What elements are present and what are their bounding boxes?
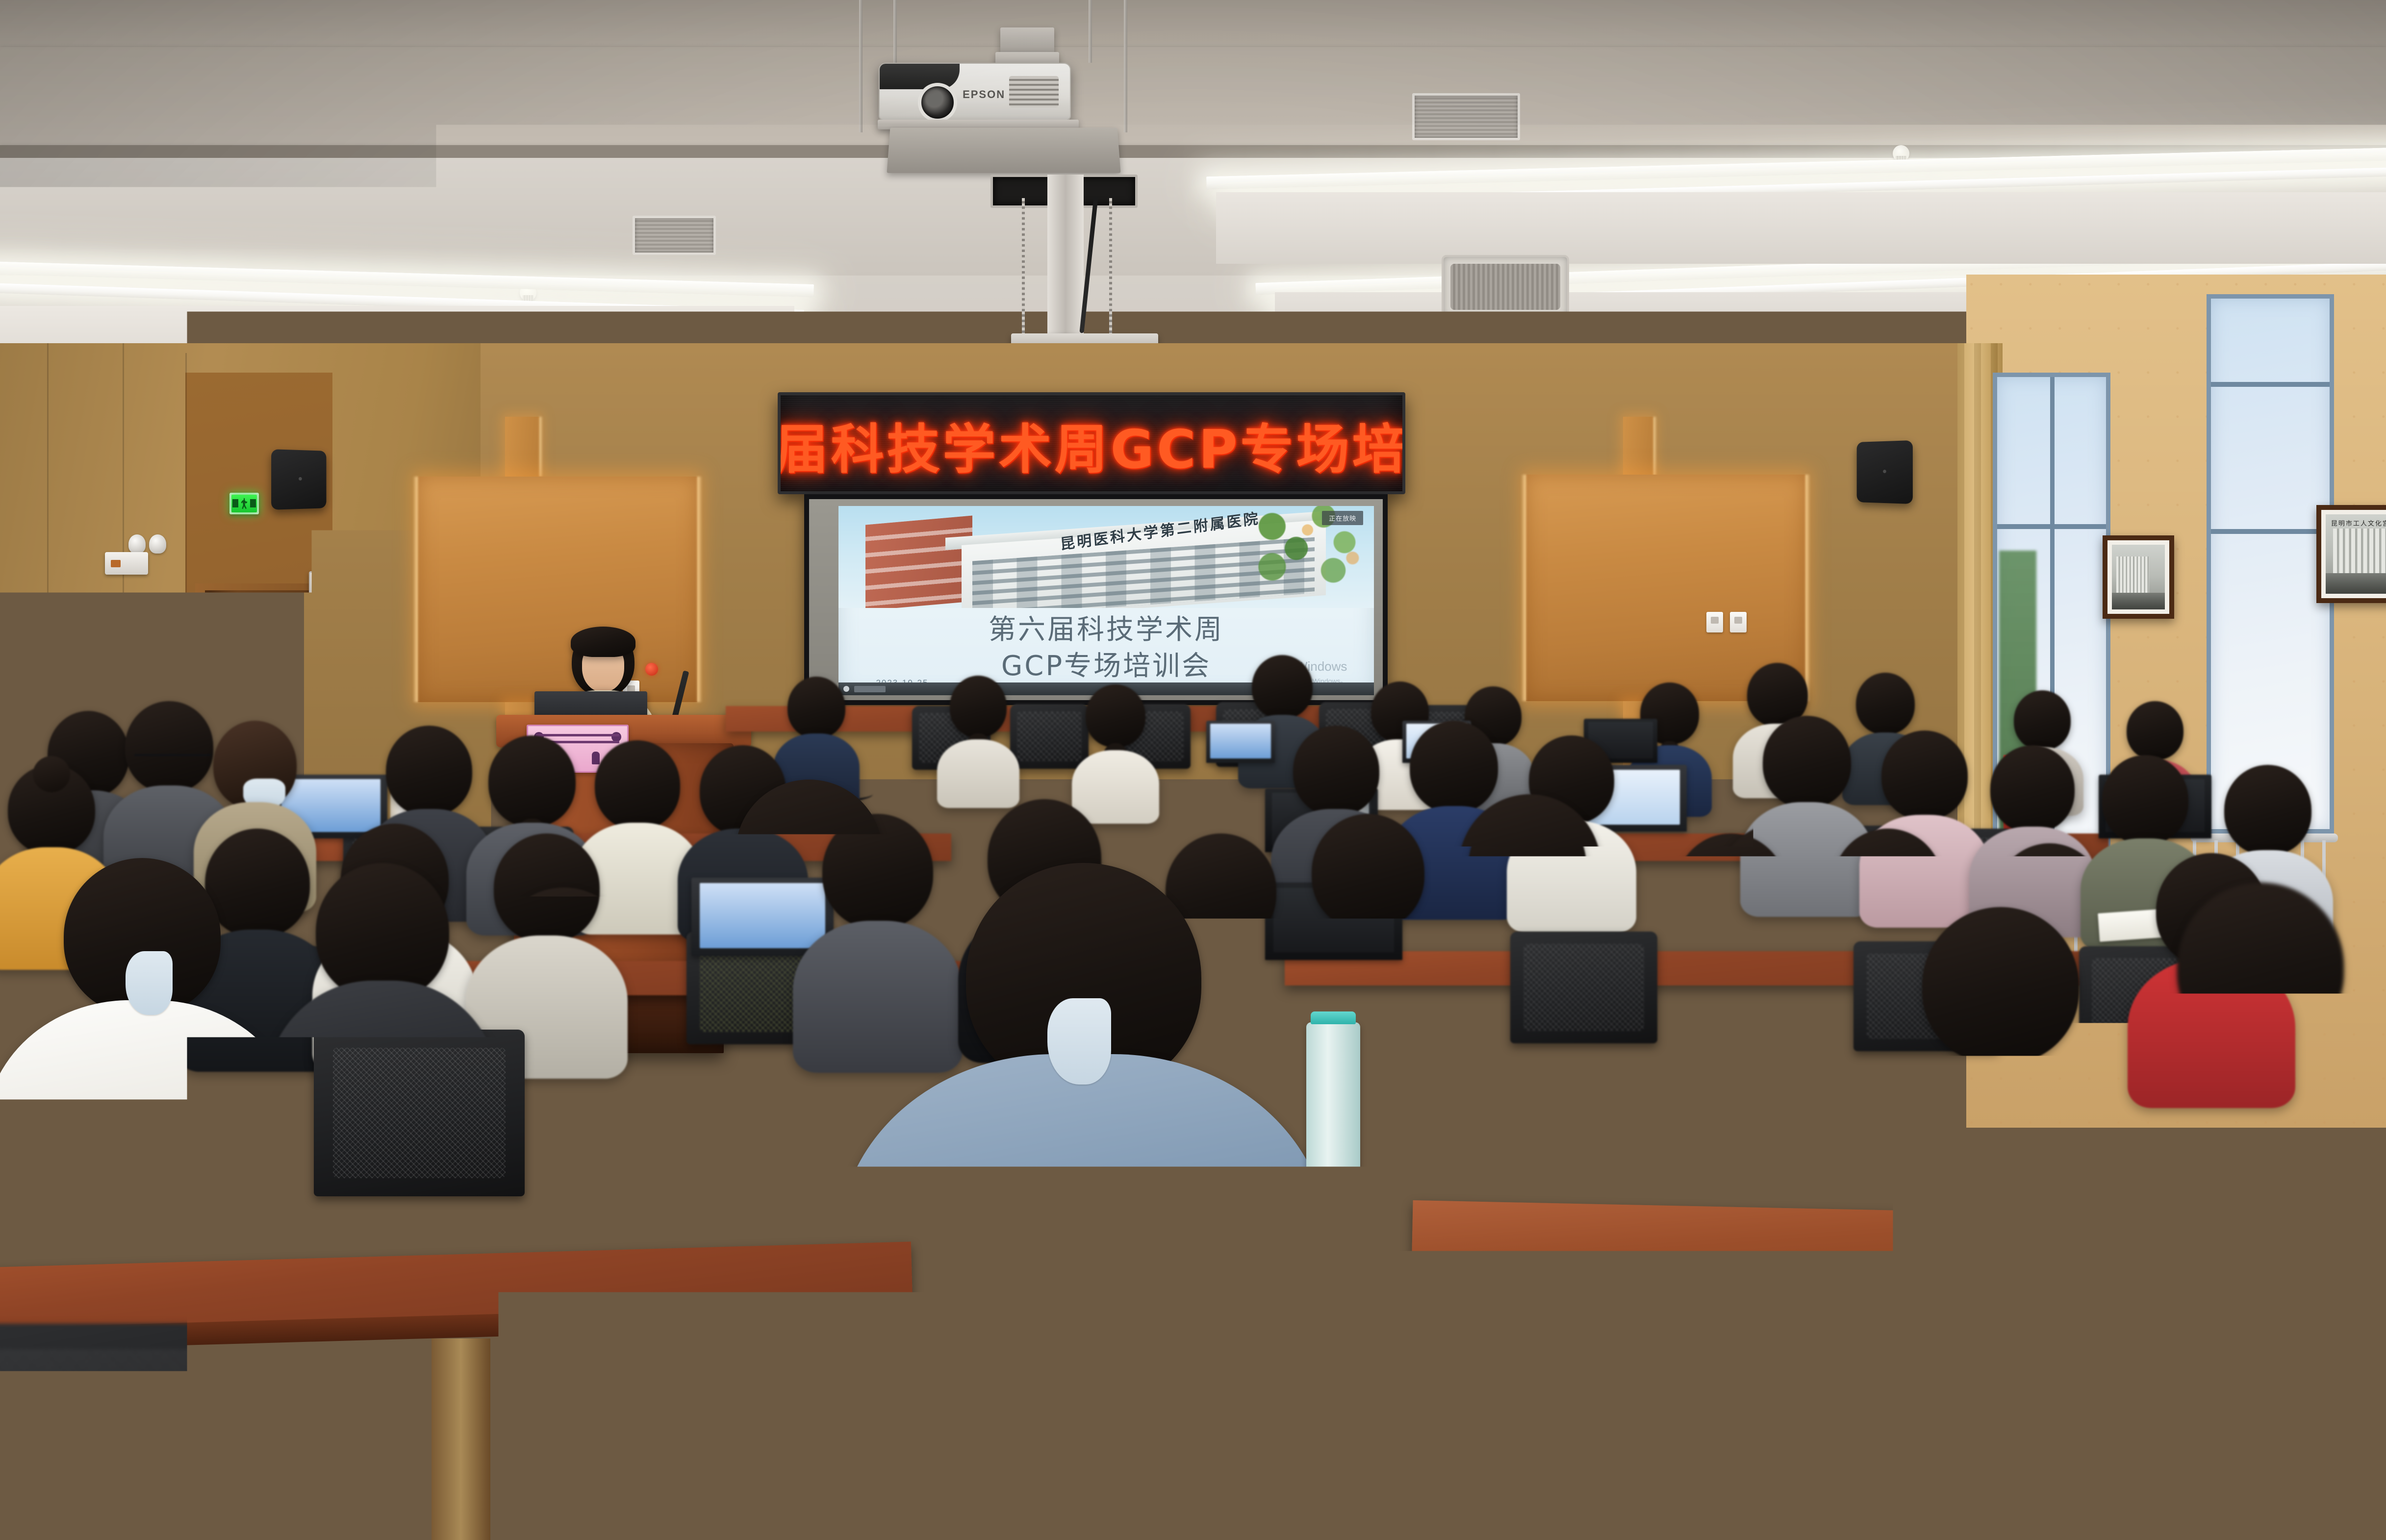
backpack-white-panel xyxy=(1019,1329,1231,1488)
building-red-wing xyxy=(865,516,972,608)
chair-far xyxy=(1010,704,1089,769)
attendee-near-mid xyxy=(1314,814,1422,1010)
door-hinge-icon xyxy=(208,635,216,658)
bottle-cap-icon xyxy=(1311,1011,1356,1024)
wall-control-panel[interactable] xyxy=(309,571,382,599)
face-mask xyxy=(1047,998,1111,1085)
photo-image xyxy=(2112,545,2165,609)
control-panel-led-icon xyxy=(313,575,318,579)
emergency-light-body xyxy=(105,552,148,575)
emergency-lamp-right-icon xyxy=(149,534,166,554)
attendee-foreground-pink xyxy=(1648,961,2040,1540)
attendee-far xyxy=(1084,684,1147,783)
window-mullion xyxy=(2211,529,2330,534)
taskbar-item[interactable] xyxy=(854,686,886,692)
presenter-hair-front xyxy=(571,627,635,657)
projector-lens-icon xyxy=(918,83,957,122)
face-mask xyxy=(126,951,173,1015)
projector-lift-column xyxy=(1047,175,1084,336)
microphone-head-icon xyxy=(645,663,658,676)
epson-projector: EPSON xyxy=(879,63,1071,121)
attendee-white-hoodie xyxy=(5,878,279,1270)
emergency-lamp-left-icon xyxy=(128,534,146,554)
ac-vent-icon-2 xyxy=(1412,93,1520,140)
attendee-hoodie-torso xyxy=(0,1000,299,1285)
smiley-eye-right-icon xyxy=(822,1026,838,1049)
jacket-smiley-logo xyxy=(766,1000,864,1054)
attendee-far xyxy=(946,676,1010,774)
photo-mat: 昆明市工人文化宫 xyxy=(2321,510,2386,598)
led-banner-text: 第六届科技学术周GCP专场培训会 xyxy=(778,407,1405,483)
slide-status-badge: 正在放映 xyxy=(1322,511,1363,525)
right-wall-speaker xyxy=(1857,440,1913,504)
backlit-wood-stem-top-left xyxy=(505,417,539,477)
photo-mat xyxy=(2107,540,2169,614)
right-wall-outlet[interactable] xyxy=(1730,612,1747,632)
window-right-pane xyxy=(2207,294,2334,833)
slide-hospital-photo: 昆明医科大学第二附属医院 正在放映 xyxy=(838,506,1374,608)
exit-sign xyxy=(229,493,259,514)
exit-arrow-left-icon xyxy=(232,499,238,507)
led-banner: 第六届科技学术周GCP专场培训会 xyxy=(778,392,1405,494)
smiley-arc-icon xyxy=(766,1000,864,1054)
projector-brand-label: EPSON xyxy=(963,88,1005,101)
water-bottle xyxy=(1306,1022,1360,1174)
photo-caption: 昆明市工人文化宫 xyxy=(2331,518,2386,528)
attendee-far xyxy=(785,677,848,775)
lift-chain-left xyxy=(1022,198,1025,340)
framed-photo-left xyxy=(2103,535,2174,619)
left-wall-speaker xyxy=(271,449,326,510)
attendee-torso xyxy=(2059,1167,2386,1540)
projector-vent-icon xyxy=(1009,76,1059,107)
projector-top-plate xyxy=(1000,27,1054,54)
ceiling-beam-3 xyxy=(0,145,2386,158)
ceiling-soffit-d xyxy=(1216,192,2386,264)
backpack xyxy=(1010,1289,1451,1510)
attendee-denim-jacket xyxy=(1412,809,1648,1182)
ac-cassette-icon-2 xyxy=(1442,255,1569,319)
emergency-light-icon xyxy=(127,534,170,575)
attendee-grey-hoodie xyxy=(456,897,672,1260)
attendee-head xyxy=(1733,951,1954,1172)
projector-shroud xyxy=(887,128,1120,173)
lecture-hall-photo: EPSON xyxy=(0,0,2386,1540)
backlit-wood-stem-top-right xyxy=(1623,417,1653,476)
framed-photo-right: 昆明市工人文化宫 xyxy=(2316,505,2386,603)
window-mullion xyxy=(2211,382,2330,387)
smiley-eye-left-icon xyxy=(791,1026,808,1049)
photo-image: 昆明市工人文化宫 xyxy=(2326,514,2386,594)
ceiling-beam-2 xyxy=(0,47,2386,145)
ceiling-beam-top xyxy=(0,0,2386,47)
running-man-icon xyxy=(241,498,248,509)
attendee-mid xyxy=(127,701,211,848)
ac-vent-icon-3 xyxy=(633,216,716,255)
right-wall-switch[interactable] xyxy=(1706,612,1723,632)
exit-sign-glow xyxy=(231,495,257,512)
attendee-head xyxy=(2170,966,2381,1177)
laptop-far xyxy=(1206,721,1275,763)
slide-title-line1: 第六届科技学术周 xyxy=(838,612,1374,648)
lift-chain-right xyxy=(1109,198,1112,340)
exit-arrow-right-icon xyxy=(250,499,255,507)
chair-bottom-left xyxy=(0,1412,441,1540)
attendee-foreground-rose xyxy=(2089,971,2386,1540)
attendee-torso xyxy=(1618,1167,2069,1540)
attendee-mid xyxy=(596,740,679,887)
backpack-luggage-tag xyxy=(1332,1320,1390,1387)
